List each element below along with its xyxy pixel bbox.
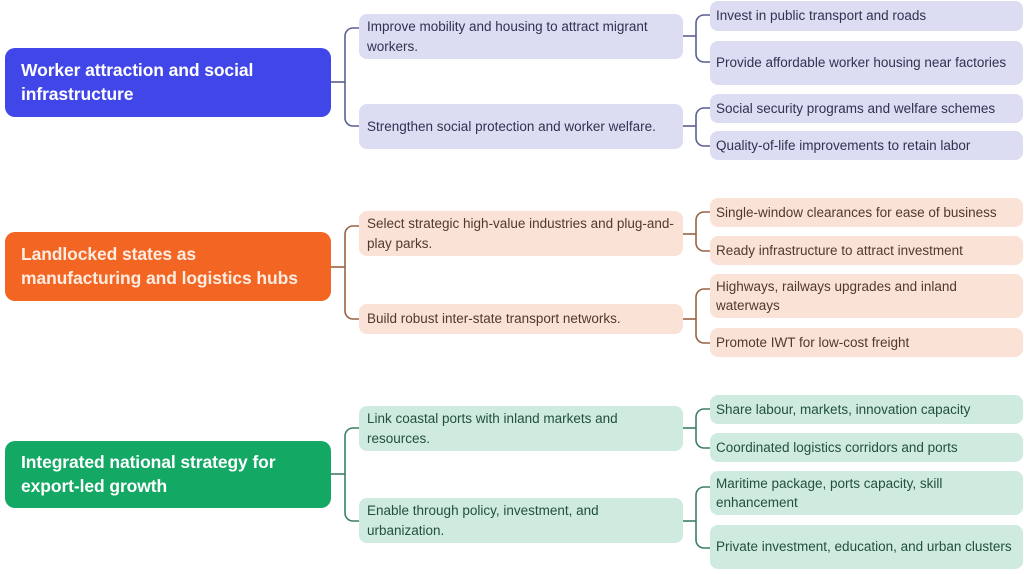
connector-leaf-3b1: [696, 487, 710, 521]
root-node-integrated-national-strategy[interactable]: Integrated national strategy for export-…: [5, 441, 331, 508]
connector-root-branch-2a: [345, 226, 359, 267]
branch-node-label: Improve mobility and housing to attract …: [367, 17, 675, 55]
leaf-node-promote-iwt[interactable]: Promote IWT for low-cost freight: [710, 328, 1023, 357]
leaf-node-label: Social security programs and welfare sch…: [716, 99, 1017, 118]
leaf-node-label: Promote IWT for low-cost freight: [716, 333, 1017, 352]
connector-leaf-1a2: [696, 36, 710, 62]
leaf-node-label: Quality-of-life improvements to retain l…: [716, 136, 1017, 155]
branch-node-label: Build robust inter-state transport netwo…: [367, 309, 675, 328]
leaf-node-invest-public-transport[interactable]: Invest in public transport and roads: [710, 1, 1023, 31]
branch-node-label: Link coastal ports with inland markets a…: [367, 409, 675, 447]
root-node-label: Worker attraction and social infrastruct…: [21, 59, 315, 106]
leaf-node-quality-of-life[interactable]: Quality-of-life improvements to retain l…: [710, 131, 1023, 160]
connector-leaf-2a2: [696, 234, 710, 251]
leaf-node-label: Single-window clearances for ease of bus…: [716, 203, 1017, 222]
leaf-node-social-security-programs[interactable]: Social security programs and welfare sch…: [710, 94, 1023, 123]
root-node-landlocked-states[interactable]: Landlocked states as manufacturing and l…: [5, 232, 331, 301]
connector-root-branch-1b: [345, 82, 359, 126]
connector-root-branch-3b: [345, 474, 359, 521]
branch-node-enable-through-policy[interactable]: Enable through policy, investment, and u…: [359, 498, 683, 543]
connector-leaf-2b1: [696, 289, 710, 319]
connector-leaf-1a1: [696, 15, 710, 36]
leaf-node-coordinated-logistics[interactable]: Coordinated logistics corridors and port…: [710, 433, 1023, 462]
leaf-node-label: Private investment, education, and urban…: [716, 537, 1017, 556]
connector-root-branch-2b: [345, 267, 359, 319]
root-node-label: Landlocked states as manufacturing and l…: [21, 243, 315, 290]
leaf-node-share-labour-markets[interactable]: Share labour, markets, innovation capaci…: [710, 395, 1023, 424]
connector-leaf-2b2: [696, 319, 710, 343]
connector-leaf-3a2: [696, 428, 710, 448]
branch-node-label: Strengthen social protection and worker …: [367, 117, 675, 136]
connector-leaf-2a1: [696, 212, 710, 234]
leaf-node-affordable-worker-housing[interactable]: Provide affordable worker housing near f…: [710, 41, 1023, 85]
leaf-node-single-window-clearances[interactable]: Single-window clearances for ease of bus…: [710, 198, 1023, 227]
connector-leaf-3a1: [696, 409, 710, 428]
branch-node-improve-mobility[interactable]: Improve mobility and housing to attract …: [359, 14, 683, 59]
leaf-node-maritime-package[interactable]: Maritime package, ports capacity, skill …: [710, 471, 1023, 515]
leaf-node-label: Maritime package, ports capacity, skill …: [716, 474, 1017, 512]
branch-node-inter-state-transport[interactable]: Build robust inter-state transport netwo…: [359, 304, 683, 334]
leaf-node-label: Ready infrastructure to attract investme…: [716, 241, 1017, 260]
connector-root-branch-3a: [345, 428, 359, 474]
leaf-node-label: Invest in public transport and roads: [716, 6, 1017, 25]
leaf-node-label: Provide affordable worker housing near f…: [716, 53, 1017, 72]
branch-node-strengthen-social-protection[interactable]: Strengthen social protection and worker …: [359, 104, 683, 149]
leaf-node-ready-infrastructure[interactable]: Ready infrastructure to attract investme…: [710, 236, 1023, 265]
branch-node-label: Select strategic high-value industries a…: [367, 214, 675, 252]
root-node-worker-attraction[interactable]: Worker attraction and social infrastruct…: [5, 48, 331, 117]
leaf-node-label: Share labour, markets, innovation capaci…: [716, 400, 1017, 419]
root-node-label: Integrated national strategy for export-…: [21, 451, 315, 498]
leaf-node-private-investment[interactable]: Private investment, education, and urban…: [710, 525, 1023, 569]
connector-leaf-1b2: [696, 126, 710, 146]
leaf-node-label: Coordinated logistics corridors and port…: [716, 438, 1017, 457]
connector-root-branch-1a: [345, 28, 359, 82]
branch-node-select-strategic-industries[interactable]: Select strategic high-value industries a…: [359, 211, 683, 256]
mindmap-canvas: Worker attraction and social infrastruct…: [0, 0, 1024, 574]
connector-leaf-1b1: [696, 108, 710, 126]
leaf-node-highways-railways[interactable]: Highways, railways upgrades and inland w…: [710, 274, 1023, 318]
branch-node-link-coastal-ports[interactable]: Link coastal ports with inland markets a…: [359, 406, 683, 451]
branch-node-label: Enable through policy, investment, and u…: [367, 501, 675, 539]
connector-leaf-3b2: [696, 521, 710, 548]
leaf-node-label: Highways, railways upgrades and inland w…: [716, 277, 1017, 315]
